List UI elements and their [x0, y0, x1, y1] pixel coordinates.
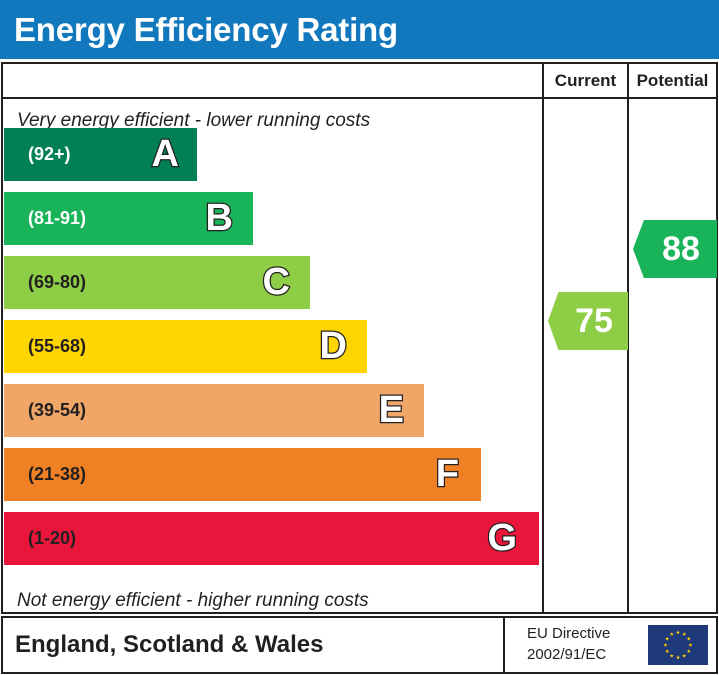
footer-bar: England, Scotland & Wales EU Directive 2… — [1, 616, 718, 674]
band-range-e: (39-54) — [28, 384, 86, 437]
band-range-c: (69-80) — [28, 256, 86, 309]
band-letter-b: B — [206, 192, 233, 245]
eu-directive-text: EU Directive 2002/91/EC — [527, 623, 610, 665]
band-row-d: (55-68) D — [4, 320, 367, 373]
caption-bottom: Not energy efficient - higher running co… — [17, 590, 369, 612]
band-row-b: (81-91) B — [4, 192, 253, 245]
current-rating-value: 75 — [563, 292, 613, 350]
column-header-potential: Potential — [629, 64, 716, 97]
band-range-a: (92+) — [28, 128, 71, 181]
column-divider-current — [542, 64, 544, 612]
band-letter-d: D — [320, 320, 347, 373]
band-row-f: (21-38) F — [4, 448, 481, 501]
potential-rating-marker: 88 — [633, 220, 717, 278]
band-range-f: (21-38) — [28, 448, 86, 501]
title-bar: Energy Efficiency Rating — [0, 0, 719, 59]
band-range-g: (1-20) — [28, 512, 76, 565]
eu-flag-icon — [648, 625, 708, 665]
band-letter-c: C — [263, 256, 290, 309]
band-row-g: (1-20) G — [4, 512, 539, 565]
eu-directive-line2: 2002/91/EC — [527, 644, 610, 665]
column-header-current: Current — [544, 64, 627, 97]
page-title: Energy Efficiency Rating — [14, 6, 398, 53]
band-letter-g: G — [487, 512, 517, 565]
band-row-a: (92+) A — [4, 128, 197, 181]
band-letter-e: E — [379, 384, 404, 437]
band-range-b: (81-91) — [28, 192, 86, 245]
rating-table: Current Potential Very energy efficient … — [1, 62, 718, 614]
energy-efficiency-rating-certificate: Energy Efficiency Rating Current Potenti… — [0, 0, 719, 675]
band-range-d: (55-68) — [28, 320, 86, 373]
footer-region-label: England, Scotland & Wales — [15, 626, 323, 664]
current-rating-marker: 75 — [548, 292, 628, 350]
footer-divider — [503, 618, 505, 672]
eu-directive-line1: EU Directive — [527, 623, 610, 644]
band-letter-f: F — [436, 448, 459, 501]
band-letter-a: A — [152, 128, 179, 181]
band-row-c: (69-80) C — [4, 256, 310, 309]
band-list: (92+) A (81-91) B (69-80) C (55-68) D (3… — [3, 99, 542, 579]
potential-rating-value: 88 — [650, 220, 700, 278]
band-row-e: (39-54) E — [4, 384, 424, 437]
